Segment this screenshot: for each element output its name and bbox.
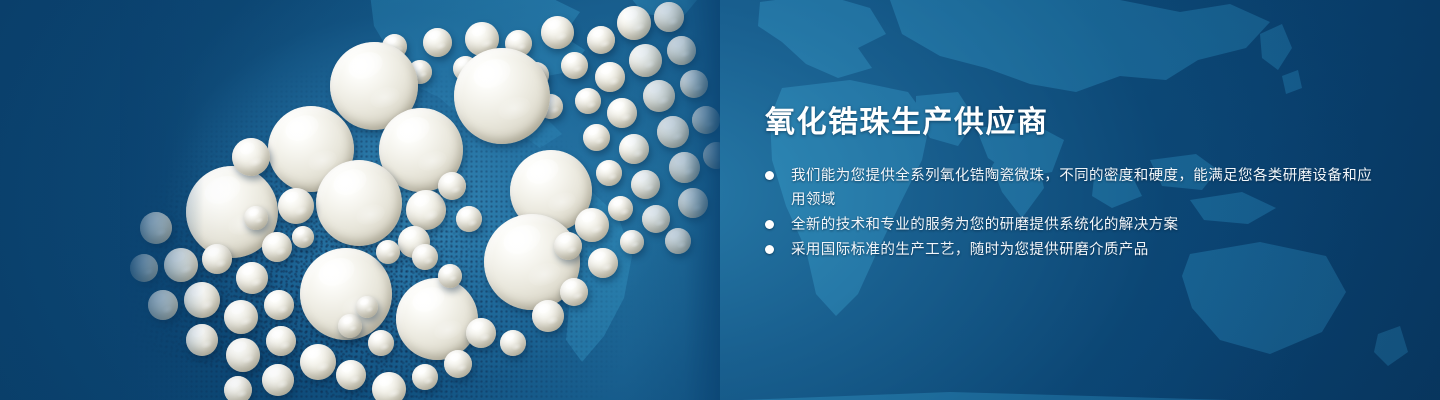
feature-list: 我们能为您提供全系列氧化锆陶瓷微珠，不同的密度和硬度，能满足您各类研磨设备和应用… [765,164,1385,262]
list-item: 全新的技术和专业的服务为您的研磨提供系统化的解决方案 [765,213,1385,237]
banner-text-column: 氧化锆珠生产供应商 我们能为您提供全系列氧化锆陶瓷微珠，不同的密度和硬度，能满足… [765,104,1385,263]
bullet-dot-icon [765,245,774,254]
list-item-text: 我们能为您提供全系列氧化锆陶瓷微珠，不同的密度和硬度，能满足您各类研磨设备和应用… [791,168,1372,208]
list-item-text: 全新的技术和专业的服务为您的研磨提供系统化的解决方案 [791,217,1178,233]
page-title: 氧化锆珠生产供应商 [765,104,1385,142]
bullet-dot-icon [765,171,774,180]
list-item-text: 采用国际标准的生产工艺，随时为您提供研磨介质产品 [791,242,1149,258]
list-item: 采用国际标准的生产工艺，随时为您提供研磨介质产品 [765,238,1385,262]
hero-banner: 氧化锆珠生产供应商 我们能为您提供全系列氧化锆陶瓷微珠，不同的密度和硬度，能满足… [0,0,1440,400]
list-item: 我们能为您提供全系列氧化锆陶瓷微珠，不同的密度和硬度，能满足您各类研磨设备和应用… [765,164,1385,212]
bullet-dot-icon [765,220,774,229]
